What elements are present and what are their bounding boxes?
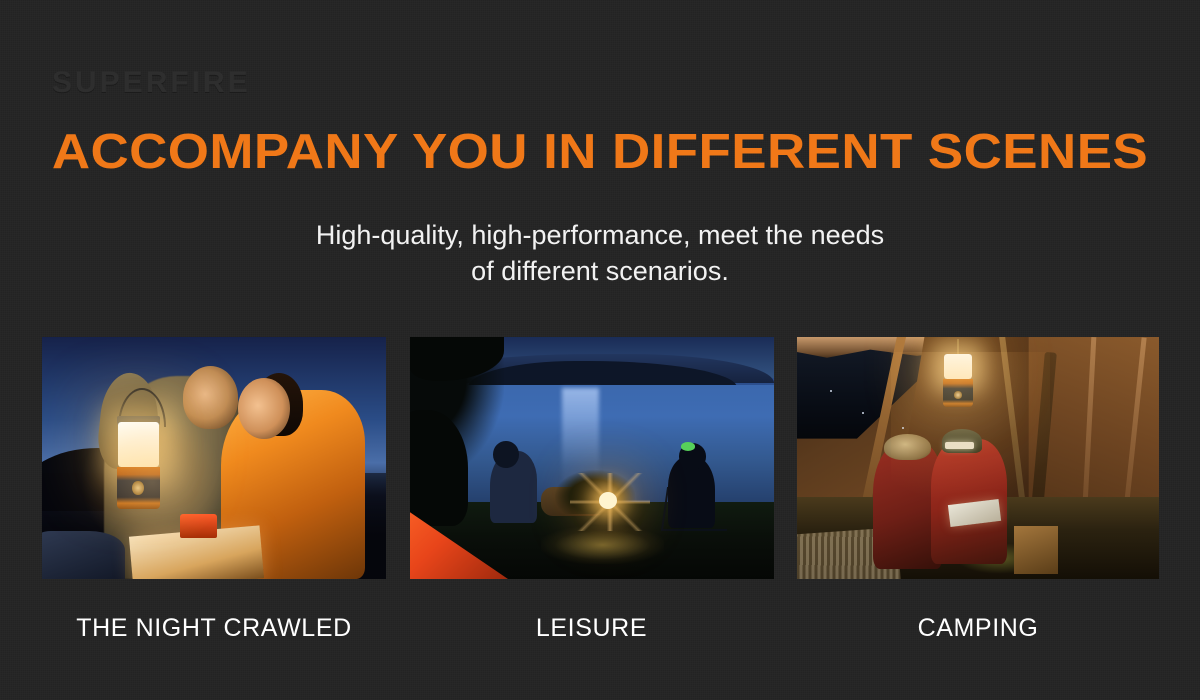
scene-photo-camping bbox=[797, 337, 1159, 579]
tent-shape bbox=[42, 531, 125, 579]
seated-person-left-head bbox=[493, 441, 518, 468]
page-subtitle: High-quality, high-performance, meet the… bbox=[0, 218, 1200, 289]
caption-leisure: LEISURE bbox=[410, 600, 774, 656]
ground-light-pool bbox=[541, 526, 665, 565]
scene-card-camping[interactable] bbox=[797, 337, 1159, 579]
promo-banner: SUPERFIRE ACCOMPANY YOU IN DIFFERENT SCE… bbox=[0, 0, 1200, 700]
lantern-icon bbox=[599, 492, 617, 509]
lantern-glass bbox=[118, 422, 159, 467]
brand-watermark: SUPERFIRE bbox=[52, 66, 251, 100]
woman-head bbox=[238, 378, 290, 439]
caption-night-crawled: THE NIGHT CRAWLED bbox=[42, 600, 386, 656]
man-head bbox=[183, 366, 238, 429]
red-cup bbox=[180, 514, 218, 538]
scene-photo-leisure bbox=[410, 337, 774, 579]
scene-card-leisure[interactable] bbox=[410, 337, 774, 579]
lantern-knob bbox=[132, 481, 144, 495]
lantern-icon bbox=[116, 422, 161, 509]
star-icon bbox=[830, 390, 832, 392]
lantern-glow bbox=[891, 352, 1050, 521]
caption-camping: CAMPING bbox=[797, 600, 1159, 656]
page-title: ACCOMPANY YOU IN DIFFERENT SCENES bbox=[0, 127, 1200, 178]
scene-gallery bbox=[42, 337, 1159, 579]
scene-captions: THE NIGHT CRAWLED LEISURE CAMPING bbox=[42, 600, 1159, 656]
scene-photo-night-crawled bbox=[42, 337, 386, 579]
subtitle-line-1: High-quality, high-performance, meet the… bbox=[0, 218, 1200, 254]
subtitle-line-2: of different scenarios. bbox=[0, 254, 1200, 290]
green-headlamp-icon bbox=[681, 442, 696, 450]
scene-card-night-crawled[interactable] bbox=[42, 337, 386, 579]
wood-stove bbox=[1014, 526, 1057, 574]
